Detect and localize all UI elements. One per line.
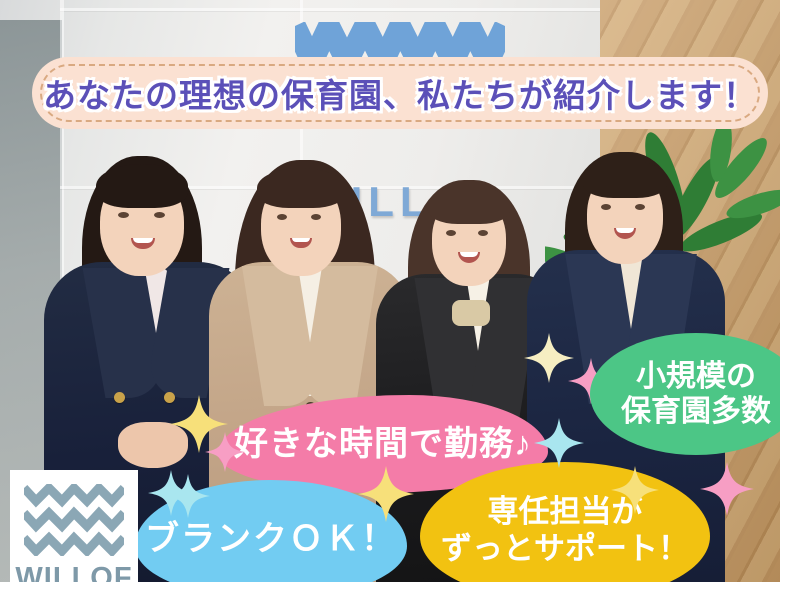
eye <box>601 204 611 210</box>
headline-text: あなたの理想の保育園、私たちが紹介します！ <box>32 57 768 129</box>
bangs <box>96 164 188 208</box>
eye <box>446 230 456 236</box>
bangs <box>257 168 345 208</box>
sparkle-yellow-green-icon <box>611 466 659 514</box>
sparkle-pink-left-icon <box>205 432 245 472</box>
willof-logo: WILLOF <box>10 470 138 596</box>
sparkle-cyan-blue-icon <box>166 474 210 518</box>
page-margin-right <box>780 0 800 600</box>
eye <box>478 230 488 236</box>
mouth <box>614 228 636 239</box>
eye <box>311 214 321 220</box>
bubble-small-nursery: 小規模の 保育園多数 <box>590 333 800 455</box>
eye <box>635 204 645 210</box>
sparkle-yellow-right-icon <box>358 466 414 522</box>
jacket-button <box>114 392 125 403</box>
recruitment-poster: WILLOF <box>0 0 800 600</box>
mouth <box>458 252 480 263</box>
headline-banner: あなたの理想の保育園、私たちが紹介します！ <box>32 57 768 129</box>
page-margin-bottom <box>0 582 800 600</box>
mouth <box>131 238 155 249</box>
sparkle-cyan-mid-icon <box>534 418 584 468</box>
bangs <box>583 160 667 198</box>
wall-seam <box>60 8 660 11</box>
bangs <box>428 186 510 224</box>
sparkle-cream-mid-icon <box>524 333 574 383</box>
sparkle-pink-wood-icon <box>700 462 754 516</box>
bubble-dedicated-support: 専任担当が ずっとサポート！ <box>420 462 710 600</box>
eye <box>118 212 129 218</box>
eye <box>154 212 165 218</box>
eye <box>277 214 287 220</box>
willof-chevron-icon <box>24 484 124 556</box>
neck-scarf <box>452 300 490 326</box>
mouth <box>290 238 312 248</box>
